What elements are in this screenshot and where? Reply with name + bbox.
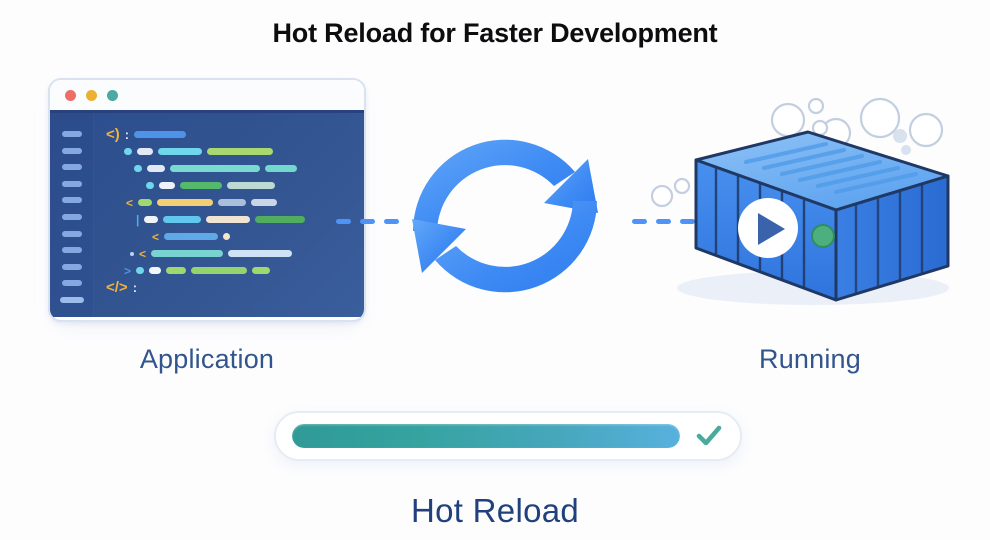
code-line: </>: (106, 282, 354, 293)
code-token (255, 216, 305, 223)
hot-reload-progress-bar[interactable] (274, 411, 742, 461)
connector-dash (360, 219, 375, 224)
status-indicator-dot (812, 225, 834, 247)
editor-frame: <):<|<<></>: (48, 78, 366, 322)
code-token (207, 148, 273, 155)
bottom-label: Hot Reload (0, 492, 990, 530)
code-dot (130, 252, 134, 256)
editor-title-bar (50, 80, 364, 113)
code-token (223, 233, 230, 240)
code-token (159, 182, 175, 189)
code-line (106, 163, 354, 174)
progress-track (292, 424, 680, 448)
gutter-mark (60, 297, 84, 303)
gutter-mark (62, 247, 82, 253)
code-glyph: <) (106, 127, 120, 142)
code-token (218, 199, 246, 206)
editor-gutter (50, 113, 94, 317)
code-token (147, 165, 165, 172)
gutter-mark (62, 197, 82, 203)
close-dot[interactable] (65, 90, 76, 101)
page-title: Hot Reload for Faster Development (0, 18, 990, 49)
code-editor-window: <):<|<<></>: (48, 78, 366, 322)
code-glyph: | (136, 214, 139, 226)
code-line: <): (106, 129, 354, 140)
play-button-icon (738, 198, 798, 258)
code-line: | (106, 214, 354, 225)
gutter-mark (62, 131, 82, 137)
code-glyph: > (124, 265, 131, 277)
code-token (149, 267, 161, 274)
checkmark-icon (694, 421, 724, 451)
gutter-mark (62, 164, 82, 170)
gutter-mark (62, 214, 82, 220)
code-token (191, 267, 247, 274)
code-colon: : (125, 128, 129, 141)
code-glyph: < (139, 248, 146, 260)
code-line: > (106, 265, 354, 276)
code-glyph: < (126, 197, 133, 209)
minimize-dot[interactable] (86, 90, 97, 101)
code-line: < (106, 231, 354, 242)
code-line: < (106, 197, 354, 208)
code-token (228, 250, 292, 257)
code-token (206, 216, 250, 223)
code-token (170, 165, 260, 172)
code-line: < (106, 248, 354, 259)
code-token (137, 148, 153, 155)
code-glyph: < (152, 231, 159, 243)
code-token (158, 148, 202, 155)
circular-refresh-arrows-icon (392, 103, 618, 329)
editor-body: <):<|<<></>: (50, 113, 364, 317)
code-token (166, 267, 186, 274)
connector-dash (632, 219, 647, 224)
connector-dash (336, 219, 351, 224)
dashed-connector-left (336, 219, 399, 224)
caption-application: Application (0, 344, 414, 375)
code-token (265, 165, 297, 172)
code-token (151, 250, 223, 257)
gutter-mark (62, 148, 82, 154)
code-token (180, 182, 222, 189)
code-token (134, 131, 186, 138)
gutter-mark (62, 264, 82, 270)
illustration-stage: Hot Reload for Faster Development <):<|<… (0, 0, 990, 540)
code-glyph: </> (106, 280, 128, 295)
caption-running: Running (650, 344, 970, 375)
gutter-mark (62, 231, 82, 237)
gutter-mark (62, 181, 82, 187)
code-line (106, 146, 354, 157)
code-token (144, 216, 158, 223)
maximize-dot[interactable] (107, 90, 118, 101)
code-dash (146, 182, 154, 189)
code-colon: : (133, 281, 137, 294)
code-token (252, 267, 270, 274)
editor-code-area: <):<|<<></>: (94, 113, 364, 317)
gutter-mark (62, 280, 82, 286)
code-dash (136, 267, 144, 274)
code-line (106, 180, 354, 191)
code-token (138, 199, 152, 206)
code-token (251, 199, 277, 206)
code-token (163, 216, 201, 223)
running-container-illustration (648, 88, 972, 326)
code-token (164, 233, 218, 240)
code-dash (124, 148, 132, 155)
code-token (227, 182, 275, 189)
code-dash (134, 165, 142, 172)
code-token (157, 199, 213, 206)
progress-fill (292, 424, 680, 448)
